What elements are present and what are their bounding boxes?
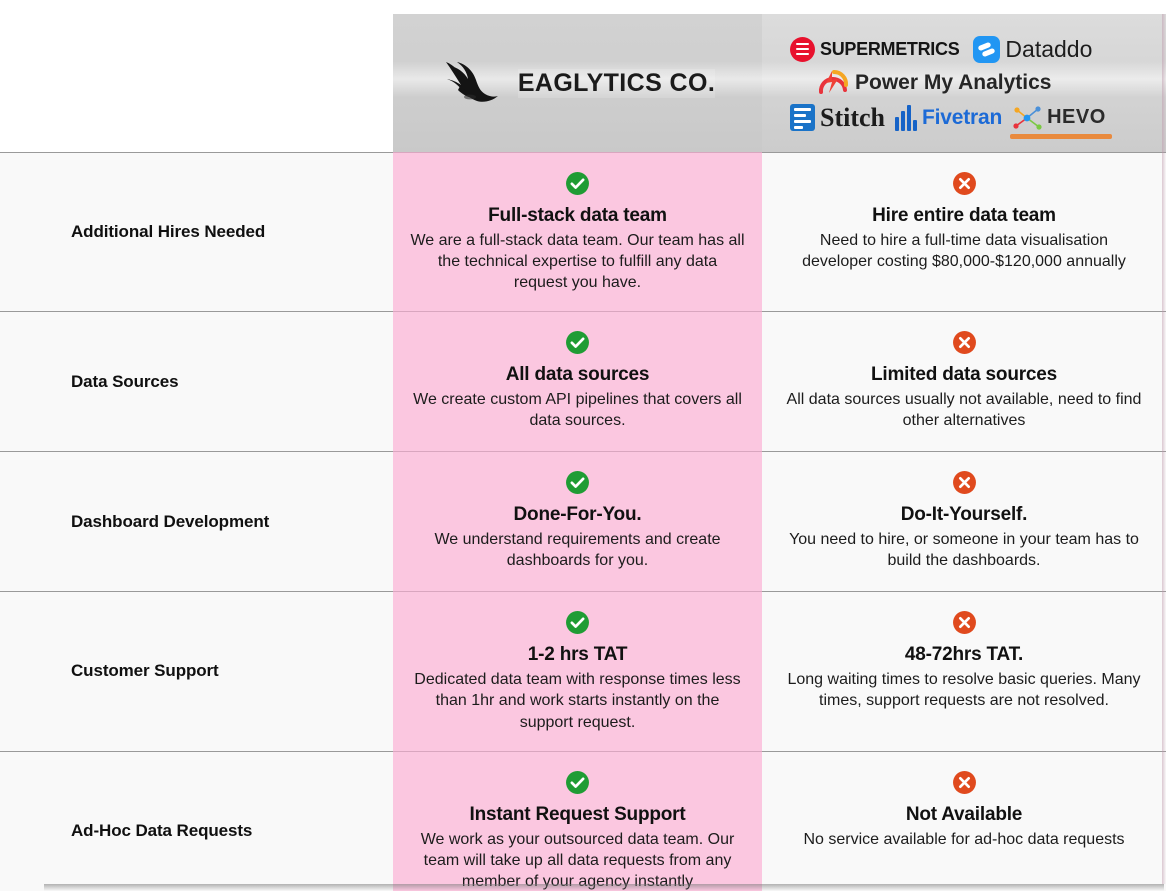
row-us-cell: All data sources We create custom API pi… [393, 311, 762, 451]
header-empty-cell [0, 0, 393, 152]
page-right-edge [1162, 14, 1166, 884]
dataddo-icon [973, 36, 1000, 63]
row-label-cell: Data Sources [0, 311, 393, 451]
comparison-table-page: EAGLYTICS CO. SUPERMETRICS Dataddo [0, 0, 1166, 891]
table-row: Data Sources All data sources We create … [0, 311, 1166, 451]
competitor-logo-power-my-analytics: Power My Analytics [816, 68, 1051, 98]
cell-description: Dedicated data team with response times … [409, 669, 746, 732]
power-my-analytics-label: Power My Analytics [855, 71, 1051, 95]
row-them-cell: Do-It-Yourself. You need to hire, or som… [762, 451, 1166, 591]
table-row: Dashboard Development Done-For-You. We u… [0, 451, 1166, 591]
cell-title: Do-It-Yourself. [784, 504, 1144, 526]
row-label: Dashboard Development [71, 512, 269, 532]
cell-title: 48-72hrs TAT. [784, 644, 1144, 666]
competitor-logo-dataddo: Dataddo [973, 36, 1092, 63]
row-label: Ad-Hoc Data Requests [71, 821, 252, 841]
table-row: Customer Support 1-2 hrs TAT Dedicated d… [0, 591, 1166, 750]
cell-description: Need to hire a full-time data visualisat… [784, 230, 1144, 272]
cell-title: Limited data sources [784, 364, 1144, 386]
cell-title: Full-stack data team [409, 205, 746, 227]
supermetrics-icon [790, 37, 815, 62]
cell-description: Long waiting times to resolve basic quer… [784, 669, 1144, 711]
row-label-cell: Dashboard Development [0, 451, 393, 591]
cross-circle-icon [952, 171, 977, 196]
row-label-cell: Additional Hires Needed [0, 152, 393, 311]
row-label: Data Sources [71, 372, 178, 392]
header-brand-cell: EAGLYTICS CO. [393, 14, 762, 152]
cell-description: We understand requirements and create da… [409, 529, 746, 571]
hevo-icon [1012, 104, 1042, 132]
row-label: Additional Hires Needed [71, 222, 265, 242]
row-them-cell: 48-72hrs TAT. Long waiting times to reso… [762, 591, 1166, 750]
row-them-cell: Hire entire data team Need to hire a ful… [762, 152, 1166, 311]
table-header-row: EAGLYTICS CO. SUPERMETRICS Dataddo [0, 0, 1166, 152]
competitor-logo-fivetran: Fivetran [895, 105, 1002, 131]
cell-title: 1-2 hrs TAT [409, 644, 746, 666]
cell-title: Done-For-You. [409, 504, 746, 526]
cell-title: All data sources [409, 364, 746, 386]
stitch-icon [790, 104, 815, 131]
page-bottom-shadow [44, 884, 1164, 891]
cross-circle-icon [952, 610, 977, 635]
row-label-cell: Ad-Hoc Data Requests [0, 751, 393, 891]
row-label: Customer Support [71, 661, 219, 681]
cell-title: Instant Request Support [409, 804, 746, 826]
stitch-label: Stitch [820, 103, 885, 133]
check-circle-icon [565, 470, 590, 495]
check-circle-icon [565, 171, 590, 196]
competitor-logo-hevo: HEVO [1012, 104, 1106, 132]
competitor-logo-supermetrics: SUPERMETRICS [790, 37, 959, 62]
dataddo-label: Dataddo [1005, 36, 1092, 63]
cell-title: Hire entire data team [784, 205, 1144, 227]
fivetran-label: Fivetran [922, 106, 1002, 130]
check-circle-icon [565, 330, 590, 355]
row-us-cell: Done-For-You. We understand requirements… [393, 451, 762, 591]
hevo-label: HEVO [1047, 106, 1106, 129]
row-us-cell: Instant Request Support We work as your … [393, 751, 762, 891]
comparison-table-body: Additional Hires Needed Full-stack data … [0, 152, 1166, 891]
eagle-icon [440, 56, 502, 110]
table-row: Ad-Hoc Data Requests Instant Request Sup… [0, 751, 1166, 891]
competitor-logo-stitch: Stitch [790, 103, 885, 133]
row-them-cell: Not Available No service available for a… [762, 751, 1166, 891]
cell-description: No service available for ad-hoc data req… [784, 829, 1144, 850]
cell-description: We are a full-stack data team. Our team … [409, 230, 746, 293]
row-us-cell: 1-2 hrs TAT Dedicated data team with res… [393, 591, 762, 750]
brand-name: EAGLYTICS CO. [518, 69, 715, 98]
cell-description: We work as your outsourced data team. Ou… [409, 829, 746, 891]
cell-title: Not Available [784, 804, 1144, 826]
cell-description: All data sources usually not available, … [784, 389, 1144, 431]
row-us-cell: Full-stack data team We are a full-stack… [393, 152, 762, 311]
cross-circle-icon [952, 330, 977, 355]
supermetrics-label: SUPERMETRICS [820, 39, 959, 60]
cell-description: You need to hire, or someone in your tea… [784, 529, 1144, 571]
check-circle-icon [565, 770, 590, 795]
row-them-cell: Limited data sources All data sources us… [762, 311, 1166, 451]
header-competitors-cell: SUPERMETRICS Dataddo Power My [762, 14, 1166, 152]
row-label-cell: Customer Support [0, 591, 393, 750]
cell-description: We create custom API pipelines that cove… [409, 389, 746, 431]
cross-circle-icon [952, 470, 977, 495]
check-circle-icon [565, 610, 590, 635]
fivetran-icon [895, 105, 917, 131]
cross-circle-icon [952, 770, 977, 795]
table-row: Additional Hires Needed Full-stack data … [0, 152, 1166, 311]
power-my-analytics-icon [816, 68, 850, 98]
